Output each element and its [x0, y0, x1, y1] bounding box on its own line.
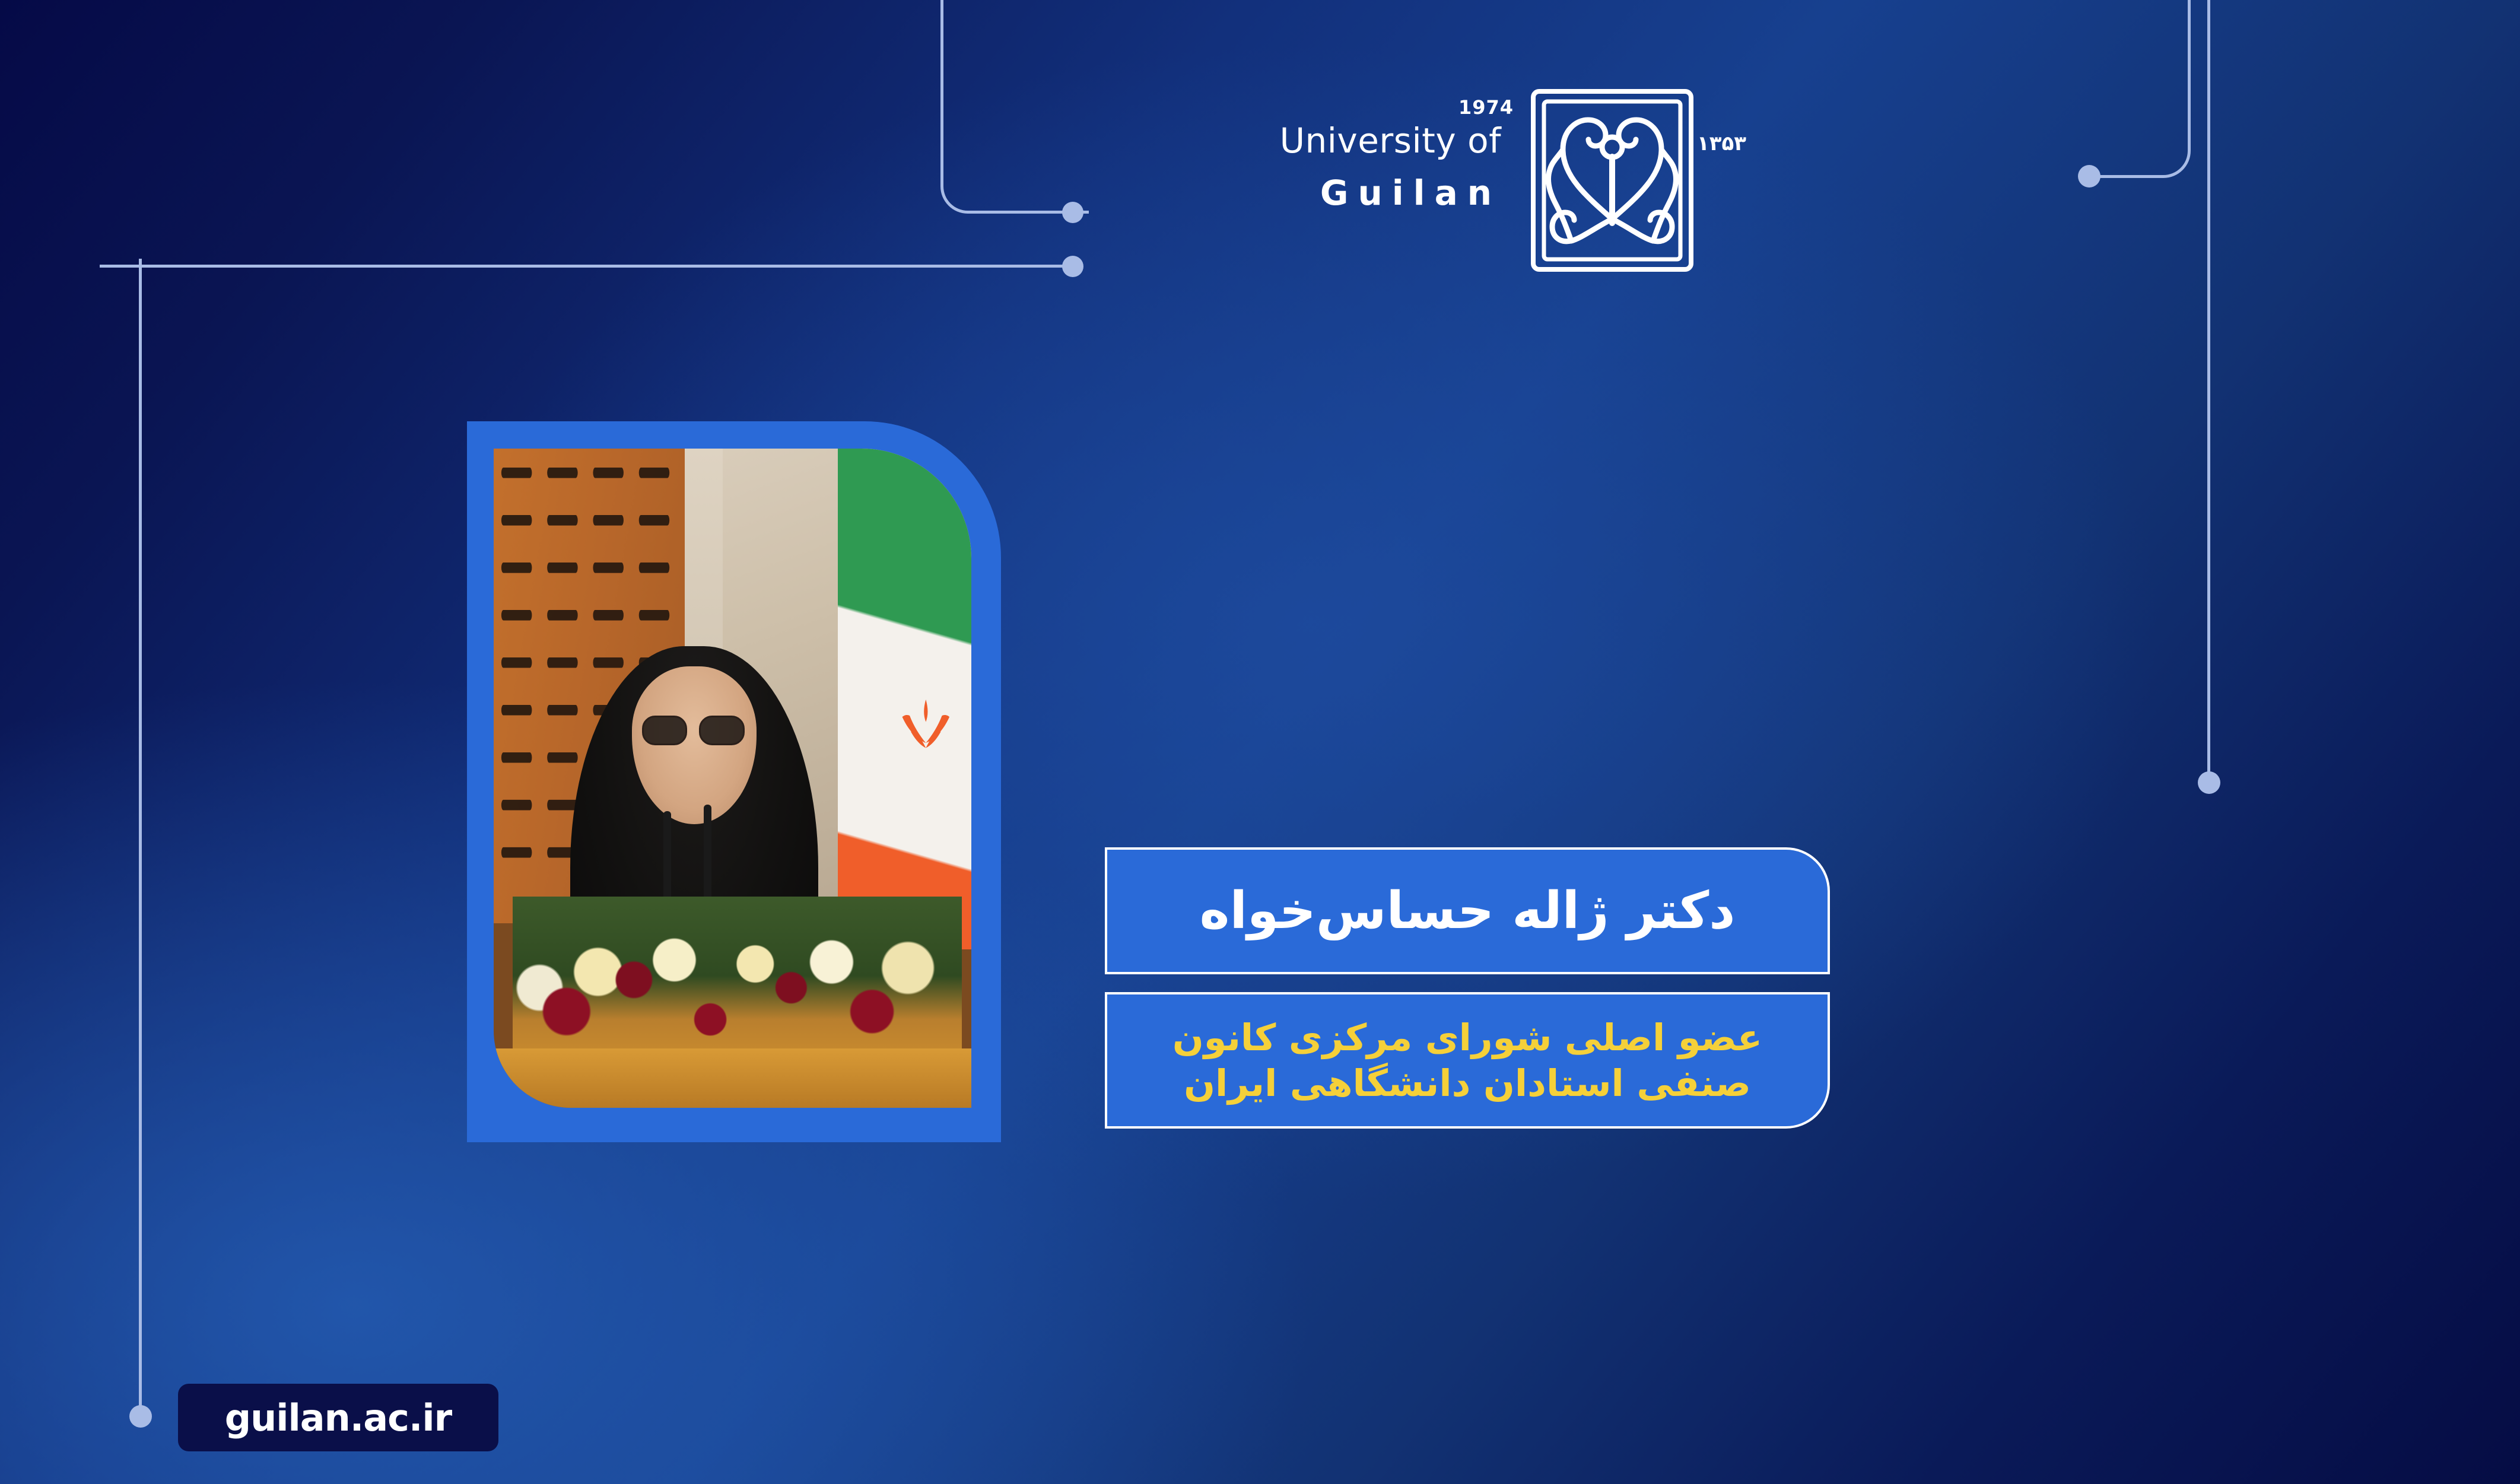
logo-gregorian-year: 1974 — [1458, 96, 1514, 119]
deco-line-left-vertical — [139, 259, 142, 1416]
photo-eyeglasses-left — [642, 716, 687, 745]
logo-english-line2: Guilan — [1222, 176, 1501, 210]
guilan-butterfly-emblem-icon — [1528, 85, 1696, 275]
logo-english-line1: University of — [1222, 123, 1501, 158]
logo-persian-name: دانشگاه گیلان — [1712, 65, 2116, 279]
website-badge[interactable]: guilan.ac.ir — [178, 1384, 498, 1451]
person-role-line2: صنفی استادان دانشگاهی ایران — [1184, 1060, 1751, 1107]
deco-dot-right-vertical-end — [2198, 771, 2220, 794]
university-logo: University of Guilan 1974 ۱۳۵۳ دانشگاه گ… — [1222, 89, 2112, 326]
deco-corner-top-left — [940, 0, 1089, 214]
website-url-text: guilan.ac.ir — [225, 1396, 452, 1439]
deco-dot-upper — [1062, 202, 1083, 223]
photo-iran-emblem-icon — [895, 673, 957, 778]
portrait-photo — [494, 449, 971, 1108]
deco-dot-long-horizontal-end — [1062, 256, 1083, 277]
deco-line-right-vertical — [2207, 0, 2210, 777]
person-role-line1: عضو اصلی شورای مرکزی کانون — [1172, 1015, 1762, 1061]
person-name-text: دکتر ژاله حساس‌خواه — [1200, 883, 1736, 939]
banner-canvas: University of Guilan 1974 ۱۳۵۳ دانشگاه گ… — [0, 0, 2520, 1484]
photo-wooden-desk — [494, 1048, 971, 1108]
photo-eyeglasses-right — [699, 716, 744, 745]
portrait-photo-card — [467, 421, 1001, 1142]
logo-english-text: University of Guilan — [1222, 123, 1501, 210]
deco-line-long-horizontal — [100, 265, 1079, 268]
deco-dot-left-vertical-end — [129, 1405, 152, 1428]
person-name-plate: دکتر ژاله حساس‌خواه — [1105, 847, 1830, 974]
person-role-plate: عضو اصلی شورای مرکزی کانون صنفی استادان … — [1105, 992, 1830, 1129]
svg-text:دانشگاه گیلان: دانشگاه گیلان — [2111, 132, 2116, 235]
